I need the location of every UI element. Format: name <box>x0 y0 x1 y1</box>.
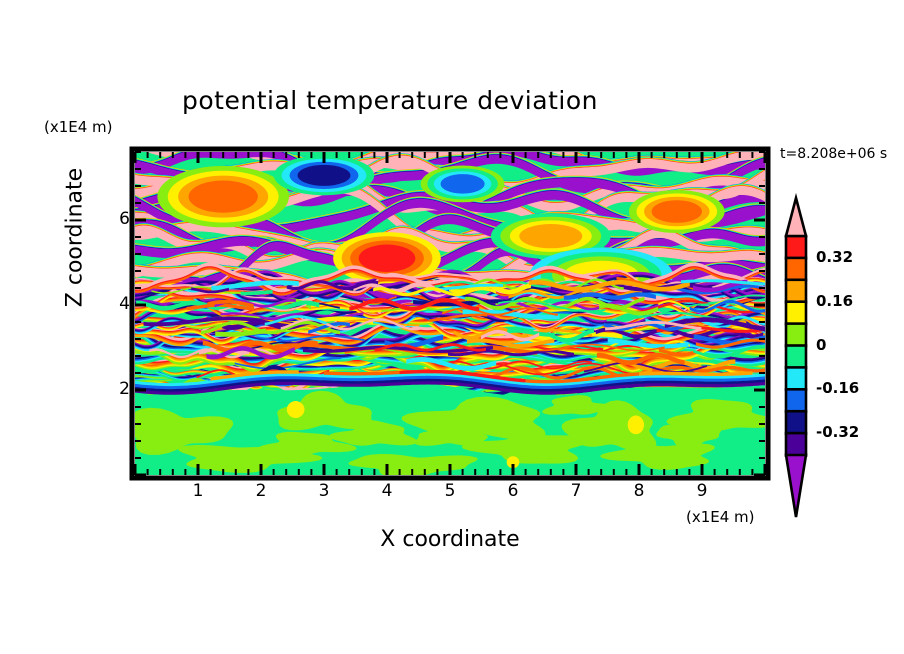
y-tick-label: 4 <box>100 294 130 314</box>
x-tick-label: 6 <box>498 481 528 501</box>
y-tick-label: 2 <box>100 379 130 399</box>
colorbar-tick-label: -0.32 <box>816 423 859 441</box>
colorbar-tick-label: -0.16 <box>816 379 859 397</box>
colorbar-tick-label: 0.32 <box>816 248 853 266</box>
colorbar-tick-label: 0 <box>816 336 826 354</box>
contour-plot <box>0 0 904 654</box>
y-tick-label: 6 <box>100 209 130 229</box>
x-tick-label: 1 <box>183 481 213 501</box>
x-tick-label: 3 <box>309 481 339 501</box>
x-tick-label: 5 <box>435 481 465 501</box>
x-tick-label: 4 <box>372 481 402 501</box>
x-tick-label: 2 <box>246 481 276 501</box>
figure-root: potential temperature deviation (x1E4 m)… <box>0 0 904 654</box>
x-tick-label: 8 <box>624 481 654 501</box>
x-tick-label: 9 <box>687 481 717 501</box>
x-tick-label: 7 <box>561 481 591 501</box>
colorbar-tick-label: 0.16 <box>816 292 853 310</box>
